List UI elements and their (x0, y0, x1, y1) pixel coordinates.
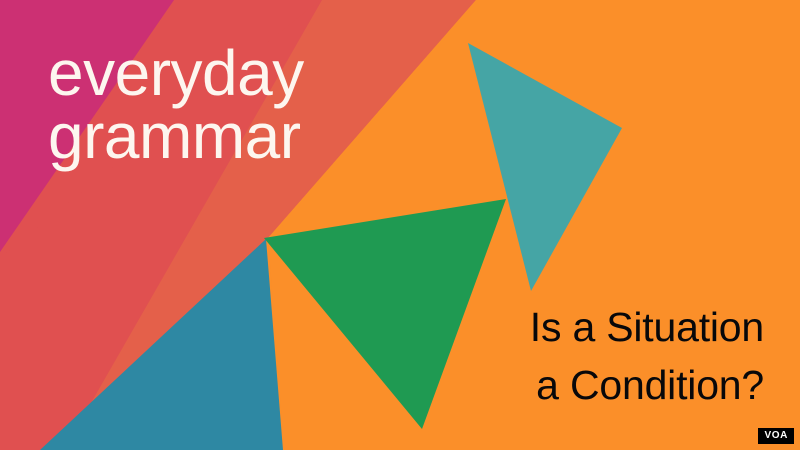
brand-line-everyday: everyday (48, 42, 304, 105)
thumbnail-canvas: everyday grammar Is a Situation a Condit… (0, 0, 800, 450)
title-line-1: Is a Situation (530, 298, 764, 356)
brand-wordmark: everyday grammar (48, 42, 304, 167)
title-line-2: a Condition? (530, 356, 764, 414)
episode-title: Is a Situation a Condition? (530, 298, 764, 414)
voa-watermark-logo: VOA (758, 428, 794, 444)
brand-line-grammar: grammar (48, 105, 304, 168)
